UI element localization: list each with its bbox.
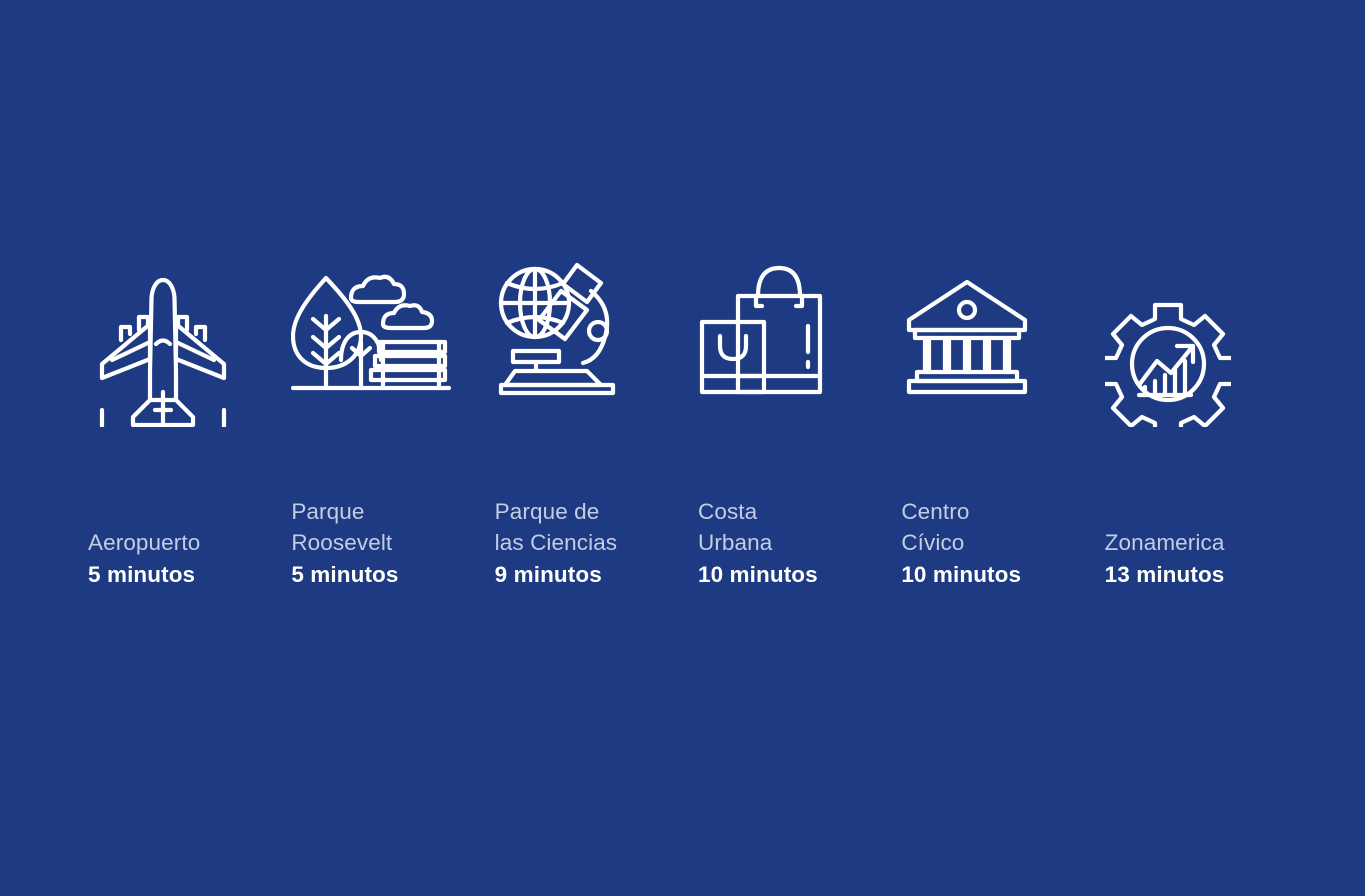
gear-chart-icon [1105,267,1308,427]
points-of-interest-row: Aeropuerto 5 minutos [88,240,1308,590]
poi-item-parque-roosevelt[interactable]: Parque Roosevelt 5 minutos [291,240,494,590]
poi-time: 9 minutos [495,559,698,590]
poi-name: Parque de las Ciencias [495,496,698,558]
poi-item-aeropuerto[interactable]: Aeropuerto 5 minutos [88,240,291,590]
shopping-bags-icon [698,240,901,396]
poi-name: Parque Roosevelt [291,496,494,558]
poi-text-centro-civico: Centro Cívico 10 minutos [901,496,1104,590]
poi-time: 13 minutos [1105,559,1308,590]
airplane-icon [88,267,291,427]
poi-text-costa-urbana: Costa Urbana 10 minutos [698,496,901,590]
poi-text-zonamerica: Zonamerica 13 minutos [1105,527,1308,590]
microscope-globe-icon [495,240,698,396]
poi-text-aeropuerto: Aeropuerto 5 minutos [88,527,291,590]
poi-name: Centro Cívico [901,496,1104,558]
poi-item-costa-urbana[interactable]: Costa Urbana 10 minutos [698,240,901,590]
poi-time: 5 minutos [291,559,494,590]
poi-item-zonamerica[interactable]: Zonamerica 13 minutos [1105,240,1308,590]
poi-item-parque-ciencias[interactable]: Parque de las Ciencias 9 minutos [495,240,698,590]
poi-time: 5 minutos [88,559,291,590]
poi-text-parque-ciencias: Parque de las Ciencias 9 minutos [495,496,698,590]
points-of-interest-section: Aeropuerto 5 minutos [0,0,1365,896]
poi-text-parque-roosevelt: Parque Roosevelt 5 minutos [291,496,494,590]
poi-name: Zonamerica [1105,527,1308,558]
poi-name: Aeropuerto [88,527,291,558]
classical-building-icon [901,240,1104,396]
poi-time: 10 minutos [901,559,1104,590]
poi-time: 10 minutos [698,559,901,590]
poi-item-centro-civico[interactable]: Centro Cívico 10 minutos [901,240,1104,590]
poi-name: Costa Urbana [698,496,901,558]
park-tree-bench-icon [291,240,494,396]
